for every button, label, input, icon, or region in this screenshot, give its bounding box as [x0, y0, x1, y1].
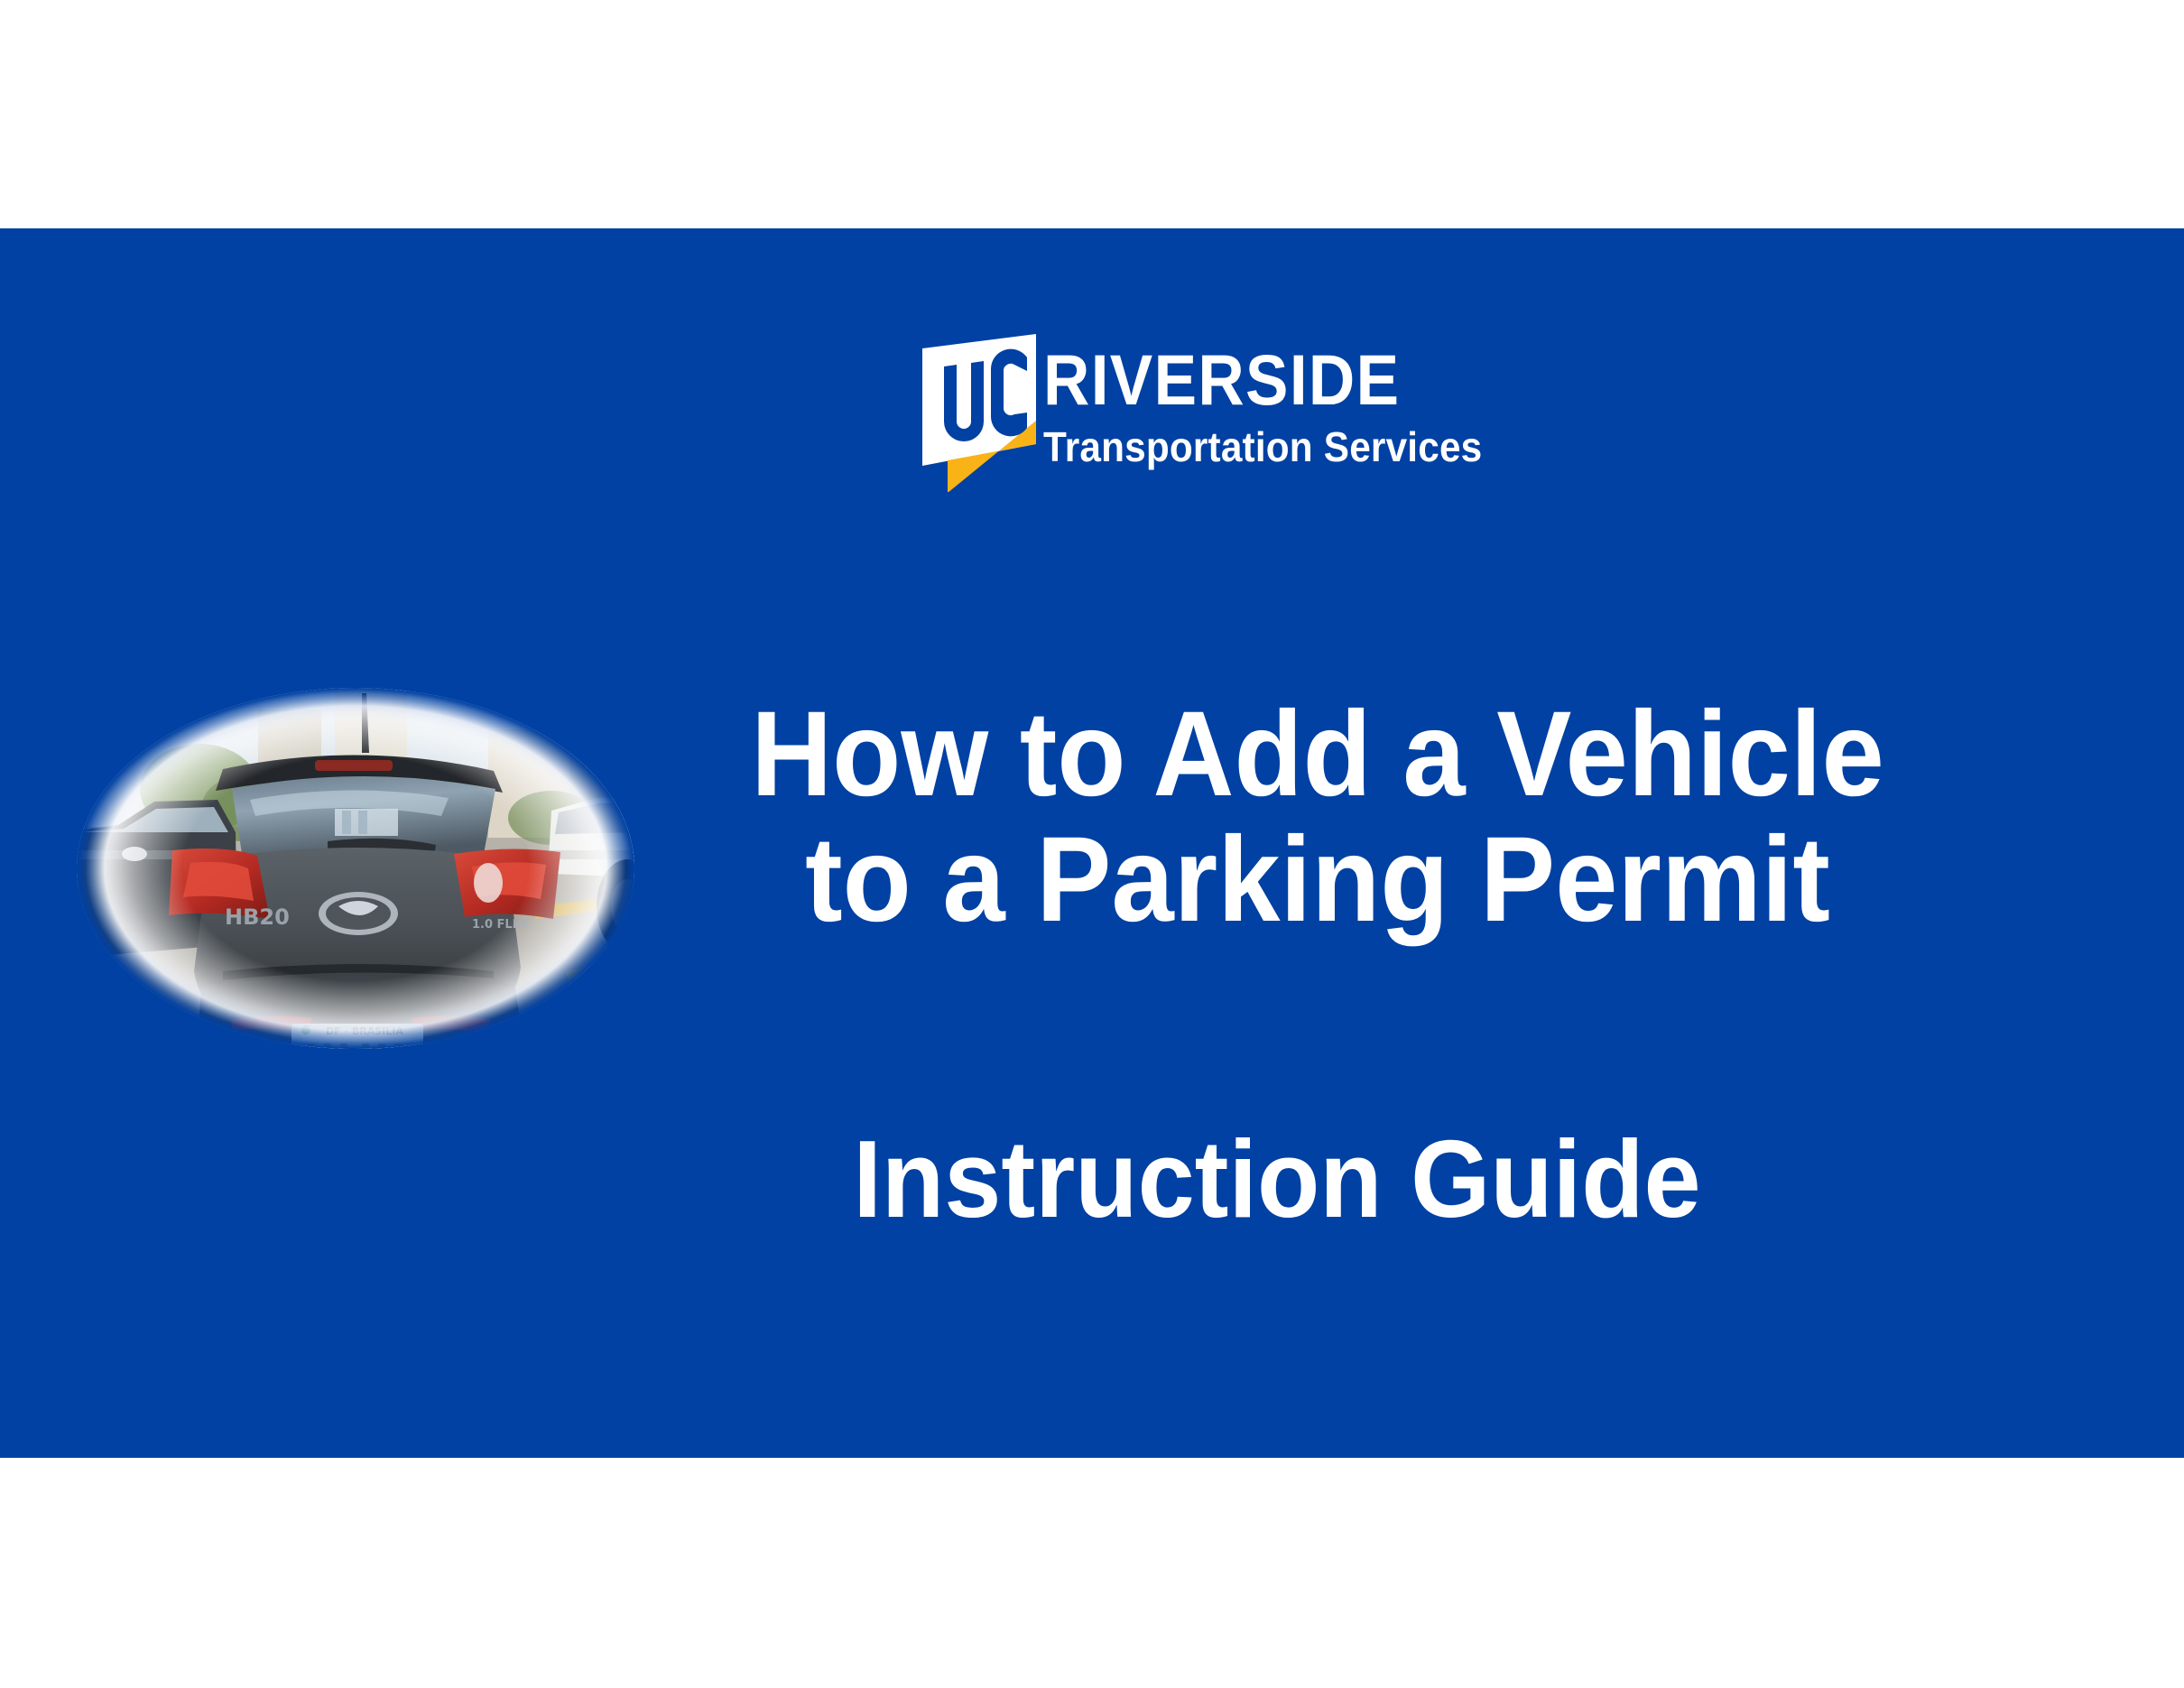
svg-text:1.0 FLEX: 1.0 FLEX	[472, 918, 530, 932]
wordmark-department: Transportation Services	[1043, 425, 1392, 468]
car-photo-image: HB20 1.0 FLEX DF - BRASILIA	[77, 688, 634, 1049]
subtitle-line-1: Instruction Guide	[643, 1121, 1911, 1237]
title-line-1: How to Add a Vehicle	[646, 691, 1989, 817]
ucr-logo-lockup: RIVERSIDE Transportation Services	[922, 334, 1428, 496]
uc-logo-mark-icon	[922, 334, 1040, 492]
page-title: How to Add a Vehicle to a Parking Permit	[596, 691, 2040, 942]
wordmark-riverside: RIVERSIDE	[1043, 344, 1384, 416]
ucr-wordmark: RIVERSIDE Transportation Services	[1043, 344, 1422, 488]
car-photo: HB20 1.0 FLEX DF - BRASILIA	[77, 688, 634, 1049]
title-slide: RIVERSIDE Transportation Services	[0, 0, 2184, 1688]
svg-text:HB20: HB20	[225, 904, 290, 930]
title-line-2: to a Parking Permit	[646, 817, 1989, 942]
page-subtitle: Instruction Guide	[596, 1121, 1958, 1237]
svg-text:DF - BRASILIA: DF - BRASILIA	[326, 1025, 403, 1037]
